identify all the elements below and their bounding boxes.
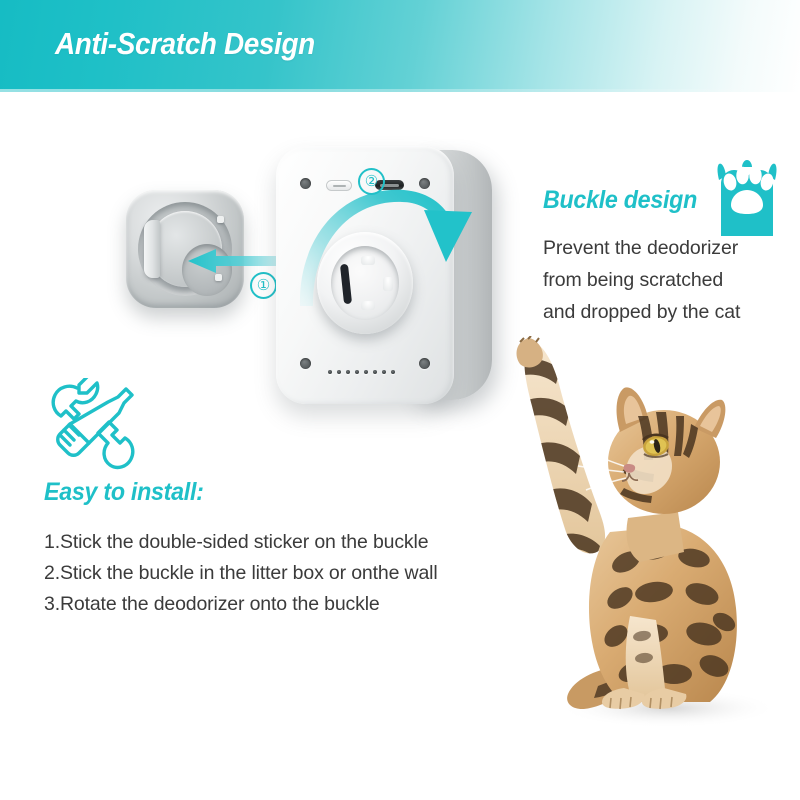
buckle-design-feature: Buckle design Prevent the deodorizer fro… [543, 186, 795, 328]
buckle-locking-tab [144, 220, 160, 278]
buckle-design-line: Prevent the deodorizer [543, 232, 795, 264]
screw-hole-bottom-right [419, 358, 430, 369]
easy-install-steps: 1.Stick the double-sided sticker on the … [44, 527, 514, 620]
header-band: Anti-Scratch Design [0, 0, 800, 92]
easy-install-feature: Easy to install: 1.Stick the double-side… [44, 478, 514, 620]
vent-dot [391, 370, 395, 374]
vent-holes [328, 370, 395, 374]
easy-install-heading: Easy to install: [44, 478, 481, 507]
buckle-notch-top [217, 216, 224, 223]
page-title: Anti-Scratch Design [55, 26, 315, 62]
vent-dot [382, 370, 386, 374]
infographic-page: Anti-Scratch Design ① [0, 0, 800, 800]
install-step: 3.Rotate the deodorizer onto the buckle [44, 589, 514, 620]
install-step: 2.Stick the buckle in the litter box or … [44, 558, 514, 589]
vent-dot [355, 370, 359, 374]
vent-dot [373, 370, 377, 374]
tools-icon [46, 378, 138, 470]
step-marker-1: ① [250, 272, 277, 299]
install-step: 1.Stick the double-sided sticker on the … [44, 527, 514, 558]
buckle-design-line: and dropped by the cat [543, 296, 795, 328]
buckle-design-line: from being scratched [543, 264, 795, 296]
cat-photo [498, 336, 788, 766]
vent-dot [328, 370, 332, 374]
vent-dot [337, 370, 341, 374]
buckle-design-heading: Buckle design [543, 186, 777, 215]
buckle-notch-bottom [215, 274, 222, 281]
screw-hole-bottom-left [300, 358, 311, 369]
vent-dot [346, 370, 350, 374]
step-marker-2: ② [358, 168, 385, 195]
rotate-arrow-icon [296, 176, 476, 316]
vent-dot [364, 370, 368, 374]
buckle-design-body: Prevent the deodorizer from being scratc… [543, 232, 795, 328]
